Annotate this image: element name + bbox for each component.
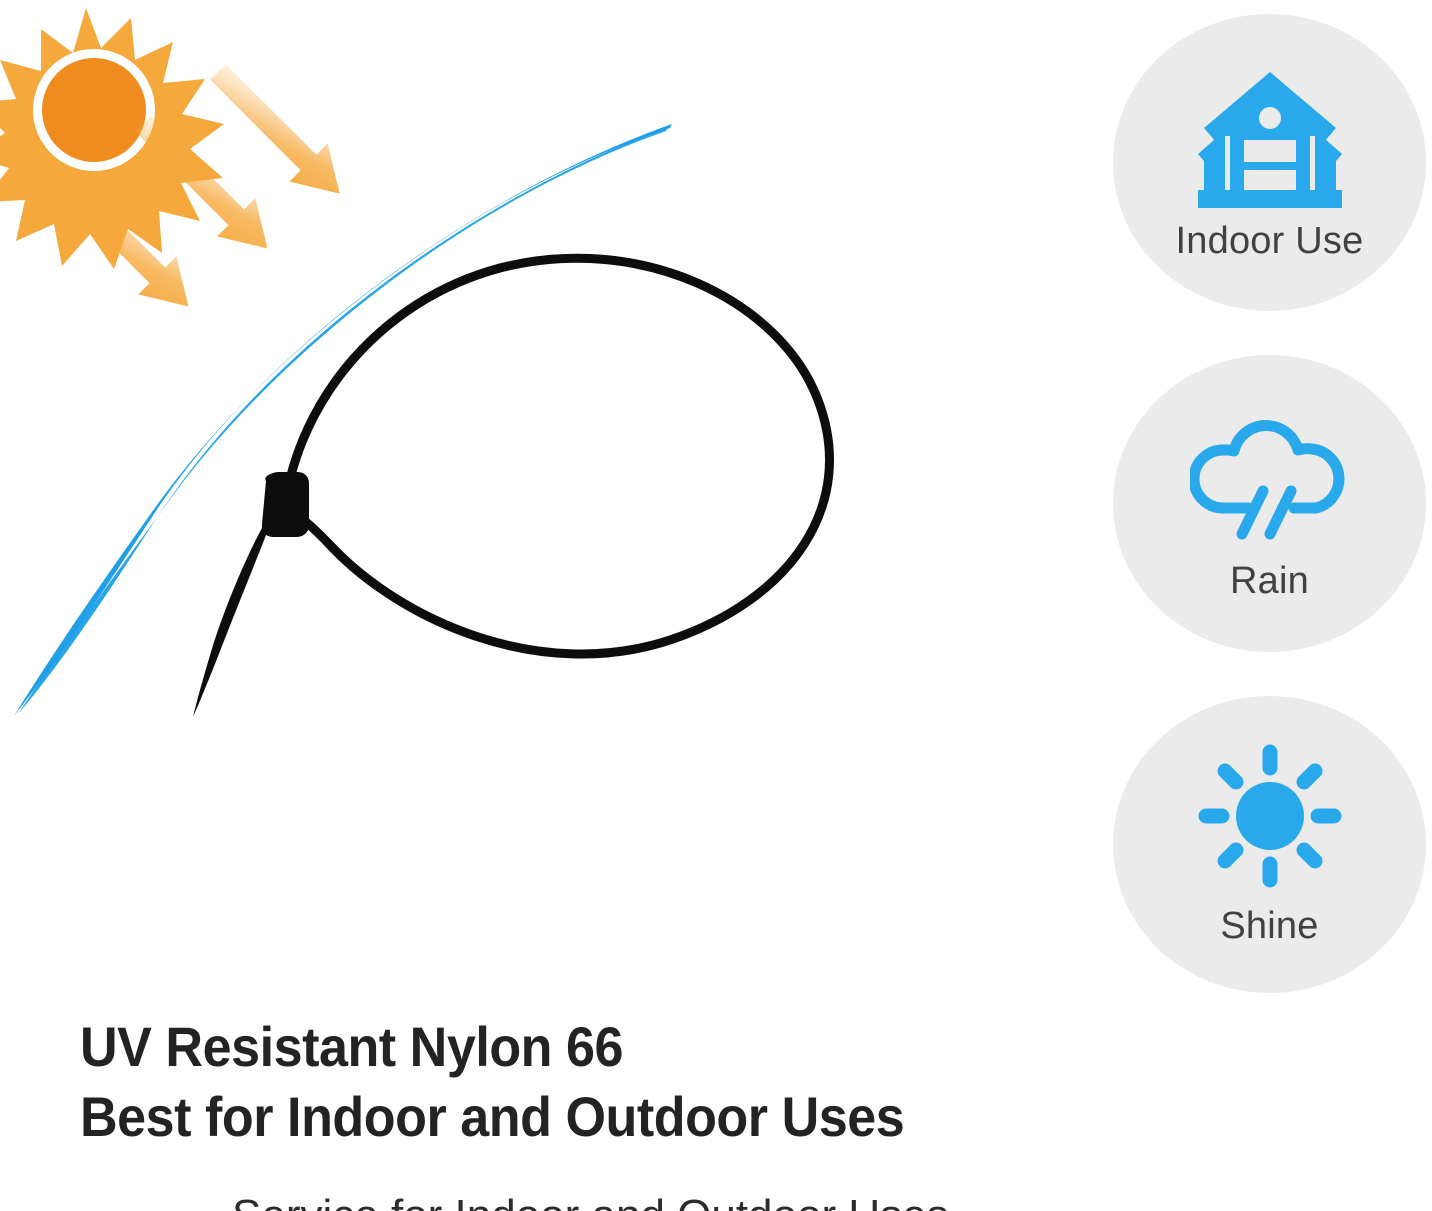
badge-label-indoor-use: Indoor Use: [1176, 222, 1364, 260]
headline-line-2: Best for Indoor and Outdoor Uses: [80, 1082, 973, 1152]
feature-badge-column: Indoor Use Rain: [1113, 14, 1426, 999]
product-illustration: [0, 0, 1090, 1000]
badge-label-shine: Shine: [1220, 907, 1318, 945]
cropped-footer-label: Service for Indoor and Outdoor Uses: [232, 1196, 992, 1211]
badge-shine[interactable]: Shine: [1113, 696, 1426, 993]
cropped-footer-text: Service for Indoor and Outdoor Uses: [232, 1196, 992, 1211]
badge-label-rain: Rain: [1230, 562, 1309, 600]
rain-cloud-icon: [1190, 408, 1350, 548]
headline-block: UV Resistant Nylon 66 Best for Indoor an…: [80, 1012, 1040, 1152]
badge-indoor-use[interactable]: Indoor Use: [1113, 14, 1426, 311]
badge-rain[interactable]: Rain: [1113, 355, 1426, 652]
house-icon: [1190, 66, 1350, 216]
sun-shine-icon: [1190, 744, 1350, 889]
infographic-canvas: Indoor Use Rain: [0, 0, 1432, 1211]
cable-tie-loop-icon: [193, 258, 829, 717]
headline-line-1: UV Resistant Nylon 66: [80, 1012, 973, 1082]
